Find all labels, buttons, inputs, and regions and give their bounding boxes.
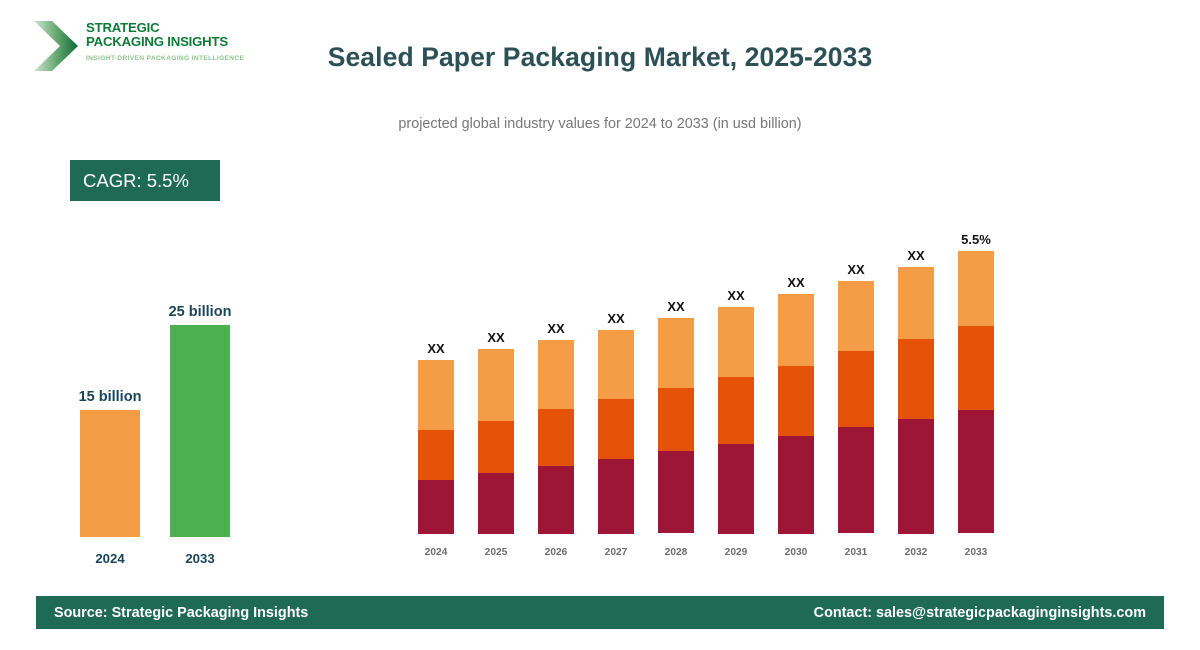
stacked-bar-segment [538, 409, 574, 466]
footer-contact: Contact: sales@strategicpackaginginsight… [814, 605, 1146, 621]
stacked-bar-category-label: 2029 [706, 547, 766, 558]
comparison-bar-value-label: 25 billion [140, 304, 260, 320]
stacked-bar-value-label: XX [526, 321, 586, 336]
stacked-bar-value-label: XX [766, 275, 826, 290]
stacked-bar-category-label: 2031 [826, 547, 886, 558]
comparison-bar [170, 325, 230, 537]
stacked-bar-segment [598, 330, 634, 399]
stacked-bar-category-label: 2026 [526, 547, 586, 558]
stacked-bar-segment [778, 436, 814, 534]
stacked-bar-segment [598, 399, 634, 459]
comparison-bar-value-label: 15 billion [50, 389, 170, 405]
stacked-bar [778, 294, 814, 534]
stacked-bar-segment [538, 466, 574, 534]
stacked-bar-segment [418, 360, 454, 430]
chart-canvas: STRATEGIC PACKAGING INSIGHTS INSIGHT-DRI… [0, 0, 1200, 650]
stacked-bar-chart: XX2024XX2025XX2026XX2027XX2028XX2029XX20… [400, 195, 1020, 560]
stacked-bar-segment [778, 294, 814, 366]
comparison-chart: 15 billion202425 billion2033 [40, 300, 300, 570]
stacked-bar [898, 267, 934, 534]
stacked-bar-segment [778, 366, 814, 436]
stacked-bar-category-label: 2030 [766, 547, 826, 558]
stacked-bar-segment [658, 388, 694, 451]
stacked-bar-segment [598, 459, 634, 534]
footer-bar: Source: Strategic Packaging Insights Con… [36, 596, 1164, 629]
logo-line-1: STRATEGIC [86, 21, 246, 35]
stacked-bar-segment [478, 421, 514, 473]
stacked-bar [718, 307, 754, 534]
cagr-badge: CAGR: 5.5% [70, 160, 220, 201]
stacked-bar-category-label: 2032 [886, 547, 946, 558]
stacked-bar-value-label: XX [586, 311, 646, 326]
stacked-bar-value-label: 5.5% [946, 232, 1006, 247]
stacked-bar-segment [958, 326, 994, 410]
stacked-bar-category-label: 2028 [646, 547, 706, 558]
stacked-bar-segment [658, 451, 694, 533]
comparison-bar-category-label: 2033 [140, 551, 260, 566]
stacked-bar-segment [958, 251, 994, 326]
stacked-bar [658, 318, 694, 534]
stacked-bar-value-label: XX [466, 330, 526, 345]
stacked-bar-segment [958, 410, 994, 533]
stacked-bar-segment [418, 430, 454, 480]
comparison-bar [80, 410, 140, 537]
stacked-bar-segment [898, 267, 934, 339]
stacked-bar [838, 281, 874, 534]
stacked-bar-segment [718, 444, 754, 534]
page-title: Sealed Paper Packaging Market, 2025-2033 [0, 42, 1200, 73]
stacked-bar-value-label: XX [886, 248, 946, 263]
stacked-bar-segment [898, 419, 934, 534]
stacked-bar [478, 349, 514, 534]
stacked-bar-segment [478, 349, 514, 421]
stacked-bar-segment [838, 427, 874, 533]
footer-source: Source: Strategic Packaging Insights [54, 605, 308, 621]
stacked-bar-segment [718, 307, 754, 377]
stacked-bar-segment [538, 340, 574, 409]
stacked-bar-value-label: XX [406, 341, 466, 356]
stacked-bar-segment [718, 377, 754, 444]
stacked-bar [538, 340, 574, 534]
stacked-bar [598, 330, 634, 534]
stacked-bar-category-label: 2024 [406, 547, 466, 558]
stacked-bar-segment [658, 318, 694, 388]
stacked-bar-category-label: 2033 [946, 547, 1006, 558]
stacked-bar-segment [418, 480, 454, 534]
page-subtitle: projected global industry values for 202… [0, 116, 1200, 132]
stacked-bar-segment [898, 339, 934, 419]
stacked-bar-value-label: XX [646, 299, 706, 314]
stacked-bar [418, 360, 454, 534]
stacked-bar-segment [838, 281, 874, 351]
stacked-bar-category-label: 2025 [466, 547, 526, 558]
stacked-bar [958, 251, 994, 534]
stacked-bar-segment [478, 473, 514, 534]
stacked-bar-segment [838, 351, 874, 427]
stacked-bar-value-label: XX [826, 262, 886, 277]
stacked-bar-category-label: 2027 [586, 547, 646, 558]
stacked-bar-value-label: XX [706, 288, 766, 303]
